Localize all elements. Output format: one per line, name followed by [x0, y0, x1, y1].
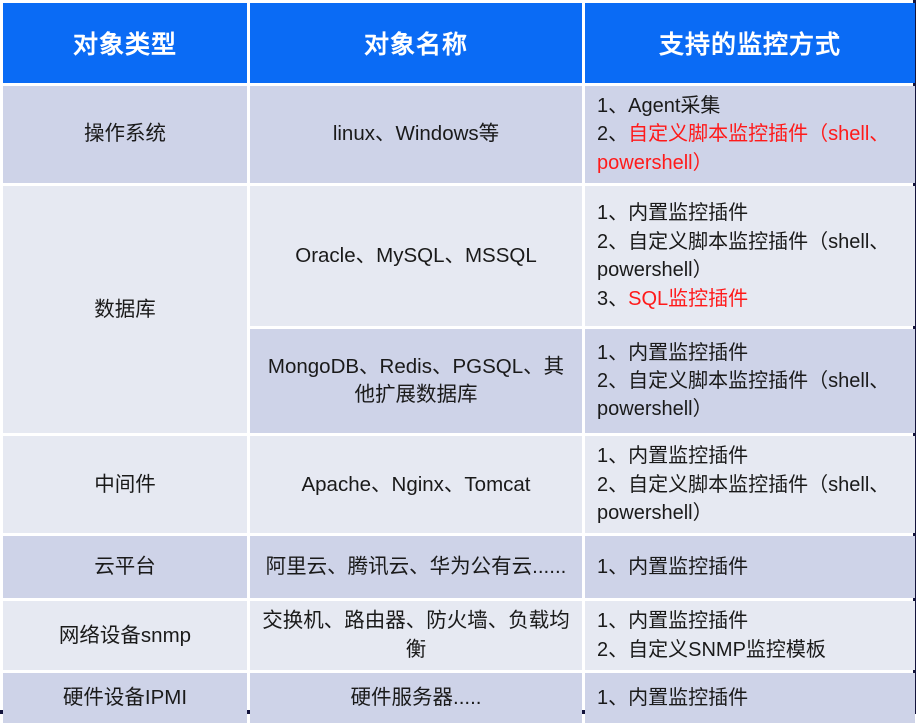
- mode-prefix: 1、: [597, 556, 628, 578]
- cell-object-type-cloud: 云平台: [3, 536, 247, 598]
- mode-text-highlighted: SQL监控插件: [628, 288, 748, 310]
- table-header: 对象类型 对象名称 支持的监控方式: [3, 3, 915, 83]
- mode-line: 1、内置监控插件: [597, 199, 905, 227]
- cell-modes-middleware: 1、内置监控插件 2、自定义脚本监控插件（shell、powershell）: [585, 436, 915, 533]
- cell-object-type-middleware: 中间件: [3, 436, 247, 533]
- mode-line: 1、内置监控插件: [597, 442, 905, 470]
- column-header-object-type: 对象类型: [3, 3, 247, 83]
- mode-prefix: 1、: [597, 610, 628, 632]
- table-row: 操作系统 linux、Windows等 1、Agent采集 2、自定义脚本监控插…: [3, 86, 915, 183]
- table-row: 网络设备snmp 交换机、路由器、防火墙、负载均衡 1、内置监控插件 2、自定义…: [3, 601, 915, 670]
- cell-modes-cloud: 1、内置监控插件: [585, 536, 915, 598]
- mode-line: 1、内置监控插件: [597, 339, 905, 367]
- cell-object-type-os: 操作系统: [3, 86, 247, 183]
- cell-object-name-cloud: 阿里云、腾讯云、华为公有云......: [250, 536, 582, 598]
- mode-prefix: 3、: [597, 288, 628, 310]
- mode-text: 自定义脚本监控插件（shell、powershell）: [597, 474, 889, 524]
- column-header-object-name: 对象名称: [250, 3, 582, 83]
- mode-line: 2、自定义SNMP监控模板: [597, 636, 905, 664]
- mode-prefix: 1、: [597, 445, 628, 467]
- mode-line: 1、Agent采集: [597, 92, 905, 120]
- mode-text: 自定义脚本监控插件（shell、powershell）: [597, 231, 889, 281]
- mode-prefix: 2、: [597, 231, 628, 253]
- mode-text: 自定义SNMP监控模板: [628, 639, 826, 661]
- cell-modes-network: 1、内置监控插件 2、自定义SNMP监控模板: [585, 601, 915, 670]
- cell-modes-os: 1、Agent采集 2、自定义脚本监控插件（shell、powershell）: [585, 86, 915, 183]
- cell-object-name-hardware: 硬件服务器.....: [250, 673, 582, 723]
- table-row: 数据库 Oracle、MySQL、MSSQL 1、内置监控插件 2、自定义脚本监…: [3, 186, 915, 326]
- mode-text: 内置监控插件: [628, 342, 748, 364]
- mode-text-highlighted: 自定义脚本监控插件（shell、powershell）: [597, 123, 889, 173]
- mode-text: 内置监控插件: [628, 687, 748, 709]
- mode-line: 2、自定义脚本监控插件（shell、powershell）: [597, 471, 905, 528]
- table-row: 中间件 Apache、Nginx、Tomcat 1、内置监控插件 2、自定义脚本…: [3, 436, 915, 533]
- monitoring-support-table-container: 对象类型 对象名称 支持的监控方式 操作系统 linux、Windows等 1、…: [0, 0, 916, 714]
- mode-prefix: 1、: [597, 342, 628, 364]
- mode-prefix: 2、: [597, 370, 628, 392]
- mode-line: 1、内置监控插件: [597, 607, 905, 635]
- cell-object-name-middleware: Apache、Nginx、Tomcat: [250, 436, 582, 533]
- mode-line: 1、内置监控插件: [597, 684, 905, 712]
- column-header-supported-monitoring-modes: 支持的监控方式: [585, 3, 915, 83]
- mode-line: 3、SQL监控插件: [597, 285, 905, 313]
- cell-object-type-network: 网络设备snmp: [3, 601, 247, 670]
- mode-prefix: 1、: [597, 202, 628, 224]
- mode-prefix: 2、: [597, 639, 628, 661]
- cell-object-type-hardware: 硬件设备IPMI: [3, 673, 247, 723]
- cell-object-name-network: 交换机、路由器、防火墙、负载均衡: [250, 601, 582, 670]
- cell-object-type-database: 数据库: [3, 186, 247, 433]
- mode-text: 内置监控插件: [628, 202, 748, 224]
- mode-prefix: 1、: [597, 95, 628, 117]
- mode-text: 内置监控插件: [628, 445, 748, 467]
- mode-line: 1、内置监控插件: [597, 553, 905, 581]
- cell-modes-hardware: 1、内置监控插件: [585, 673, 915, 723]
- cell-object-name-db-relational: Oracle、MySQL、MSSQL: [250, 186, 582, 326]
- cell-object-name-db-nosql: MongoDB、Redis、PGSQL、其他扩展数据库: [250, 329, 582, 433]
- monitoring-support-table: 对象类型 对象名称 支持的监控方式 操作系统 linux、Windows等 1、…: [0, 0, 916, 726]
- mode-text: Agent采集: [628, 95, 720, 117]
- table-row: 云平台 阿里云、腾讯云、华为公有云...... 1、内置监控插件: [3, 536, 915, 598]
- mode-prefix: 2、: [597, 474, 628, 496]
- mode-prefix: 2、: [597, 123, 628, 145]
- mode-text: 内置监控插件: [628, 610, 748, 632]
- table-row: 硬件设备IPMI 硬件服务器..... 1、内置监控插件: [3, 673, 915, 723]
- cell-modes-db-relational: 1、内置监控插件 2、自定义脚本监控插件（shell、powershell） 3…: [585, 186, 915, 326]
- header-row: 对象类型 对象名称 支持的监控方式: [3, 3, 915, 83]
- cell-modes-db-nosql: 1、内置监控插件 2、自定义脚本监控插件（shell、powershell）: [585, 329, 915, 433]
- mode-prefix: 1、: [597, 687, 628, 709]
- mode-text: 内置监控插件: [628, 556, 748, 578]
- mode-line: 2、自定义脚本监控插件（shell、powershell）: [597, 367, 905, 424]
- cell-object-name-os: linux、Windows等: [250, 86, 582, 183]
- mode-line: 2、自定义脚本监控插件（shell、powershell）: [597, 228, 905, 285]
- mode-line: 2、自定义脚本监控插件（shell、powershell）: [597, 120, 905, 177]
- mode-text: 自定义脚本监控插件（shell、powershell）: [597, 370, 889, 420]
- table-body: 操作系统 linux、Windows等 1、Agent采集 2、自定义脚本监控插…: [3, 86, 915, 723]
